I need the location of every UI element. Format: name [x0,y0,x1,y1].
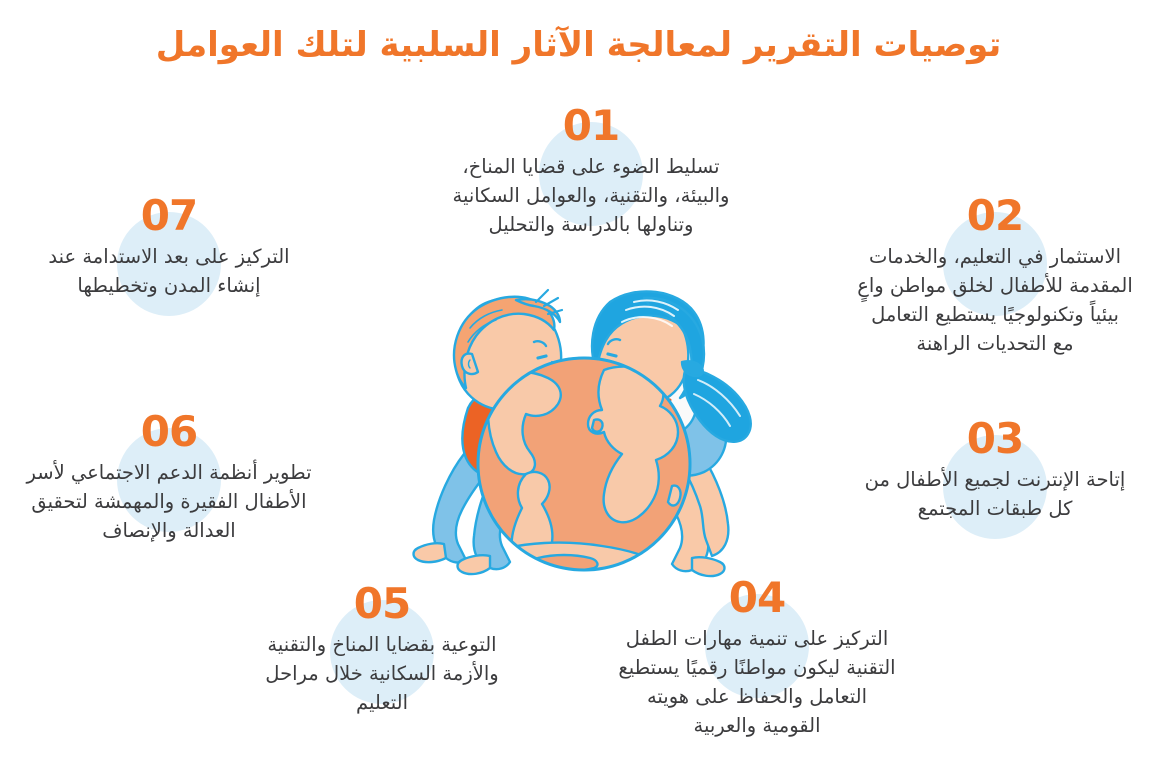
item-line: القومية والعربية [584,712,930,741]
item-body-07: التركيز على بعد الاستدامة عند إنشاء المد… [0,243,338,301]
item-line: والأزمة السكانية خلال مراحل [214,660,550,689]
recommendation-item-03: 03 إتاحة الإنترنت لجميع الأطفال من كل طب… [834,413,1156,524]
item-line: وتناولها بالدراسة والتحليل [408,211,774,240]
number-badge-05: 05 [214,578,550,630]
item-number: 01 [563,100,619,152]
recommendation-item-07: 07 التركيز على بعد الاستدامة عند إنشاء ا… [0,190,338,301]
item-line: العدالة والإنصاف [0,517,338,546]
item-number: 06 [141,406,197,458]
page-title: توصيات التقرير لمعالجة الآثار السلبية لت… [0,24,1157,67]
item-line: إنشاء المدن وتخطيطها [0,272,338,301]
item-line: بيئياً وتكنولوجيًا يستطيع التعامل [834,301,1156,330]
number-badge-03: 03 [834,413,1156,465]
item-line: الاستثمار في التعليم، والخدمات [834,243,1156,272]
item-line: المقدمة للأطفال لخلق مواطن واعٍ [834,272,1156,301]
item-line: التركيز على بعد الاستدامة عند [0,243,338,272]
item-body-04: التركيز على تنمية مهارات الطفل التقنية ل… [584,625,930,740]
item-body-02: الاستثمار في التعليم، والخدمات المقدمة ل… [834,243,1156,358]
item-line: تطوير أنظمة الدعم الاجتماعي لأسر [0,459,338,488]
recommendation-item-06: 06 تطوير أنظمة الدعم الاجتماعي لأسر الأط… [0,406,338,546]
item-body-06: تطوير أنظمة الدعم الاجتماعي لأسر الأطفال… [0,459,338,546]
number-badge-02: 02 [834,190,1156,242]
item-number: 07 [141,190,197,242]
item-body-03: إتاحة الإنترنت لجميع الأطفال من كل طبقات… [834,466,1156,524]
item-line: تسليط الضوء على قضايا المناخ، [408,153,774,182]
children-globe-illustration [398,258,764,584]
item-line: التعليم [214,689,550,718]
item-line: التوعية بقضايا المناخ والتقنية [214,631,550,660]
item-line: إتاحة الإنترنت لجميع الأطفال من [834,466,1156,495]
item-body-01: تسليط الضوء على قضايا المناخ، والبيئة، و… [408,153,774,240]
item-body-05: التوعية بقضايا المناخ والتقنية والأزمة ا… [214,631,550,718]
item-line: التقنية ليكون مواطنًا رقميًا يستطيع [584,654,930,683]
recommendation-item-05: 05 التوعية بقضايا المناخ والتقنية والأزم… [214,578,550,718]
item-line: التعامل والحفاظ على هويته [584,683,930,712]
item-number: 05 [354,578,410,630]
item-line: مع التحديات الراهنة [834,330,1156,359]
number-badge-07: 07 [0,190,338,242]
children-globe-icon [398,258,764,584]
item-line: والبيئة، والتقنية، والعوامل السكانية [408,182,774,211]
item-number: 02 [967,190,1023,242]
item-line: كل طبقات المجتمع [834,495,1156,524]
recommendation-item-01: 01 تسليط الضوء على قضايا المناخ، والبيئة… [408,100,774,240]
number-badge-01: 01 [408,100,774,152]
number-badge-06: 06 [0,406,338,458]
infographic-canvas: توصيات التقرير لمعالجة الآثار السلبية لت… [0,0,1157,771]
item-line: التركيز على تنمية مهارات الطفل [584,625,930,654]
item-line: الأطفال الفقيرة والمهمشة لتحقيق [0,488,338,517]
item-number: 04 [729,572,785,624]
recommendation-item-04: 04 التركيز على تنمية مهارات الطفل التقني… [584,572,930,740]
item-number: 03 [967,413,1023,465]
recommendation-item-02: 02 الاستثمار في التعليم، والخدمات المقدم… [834,190,1156,358]
